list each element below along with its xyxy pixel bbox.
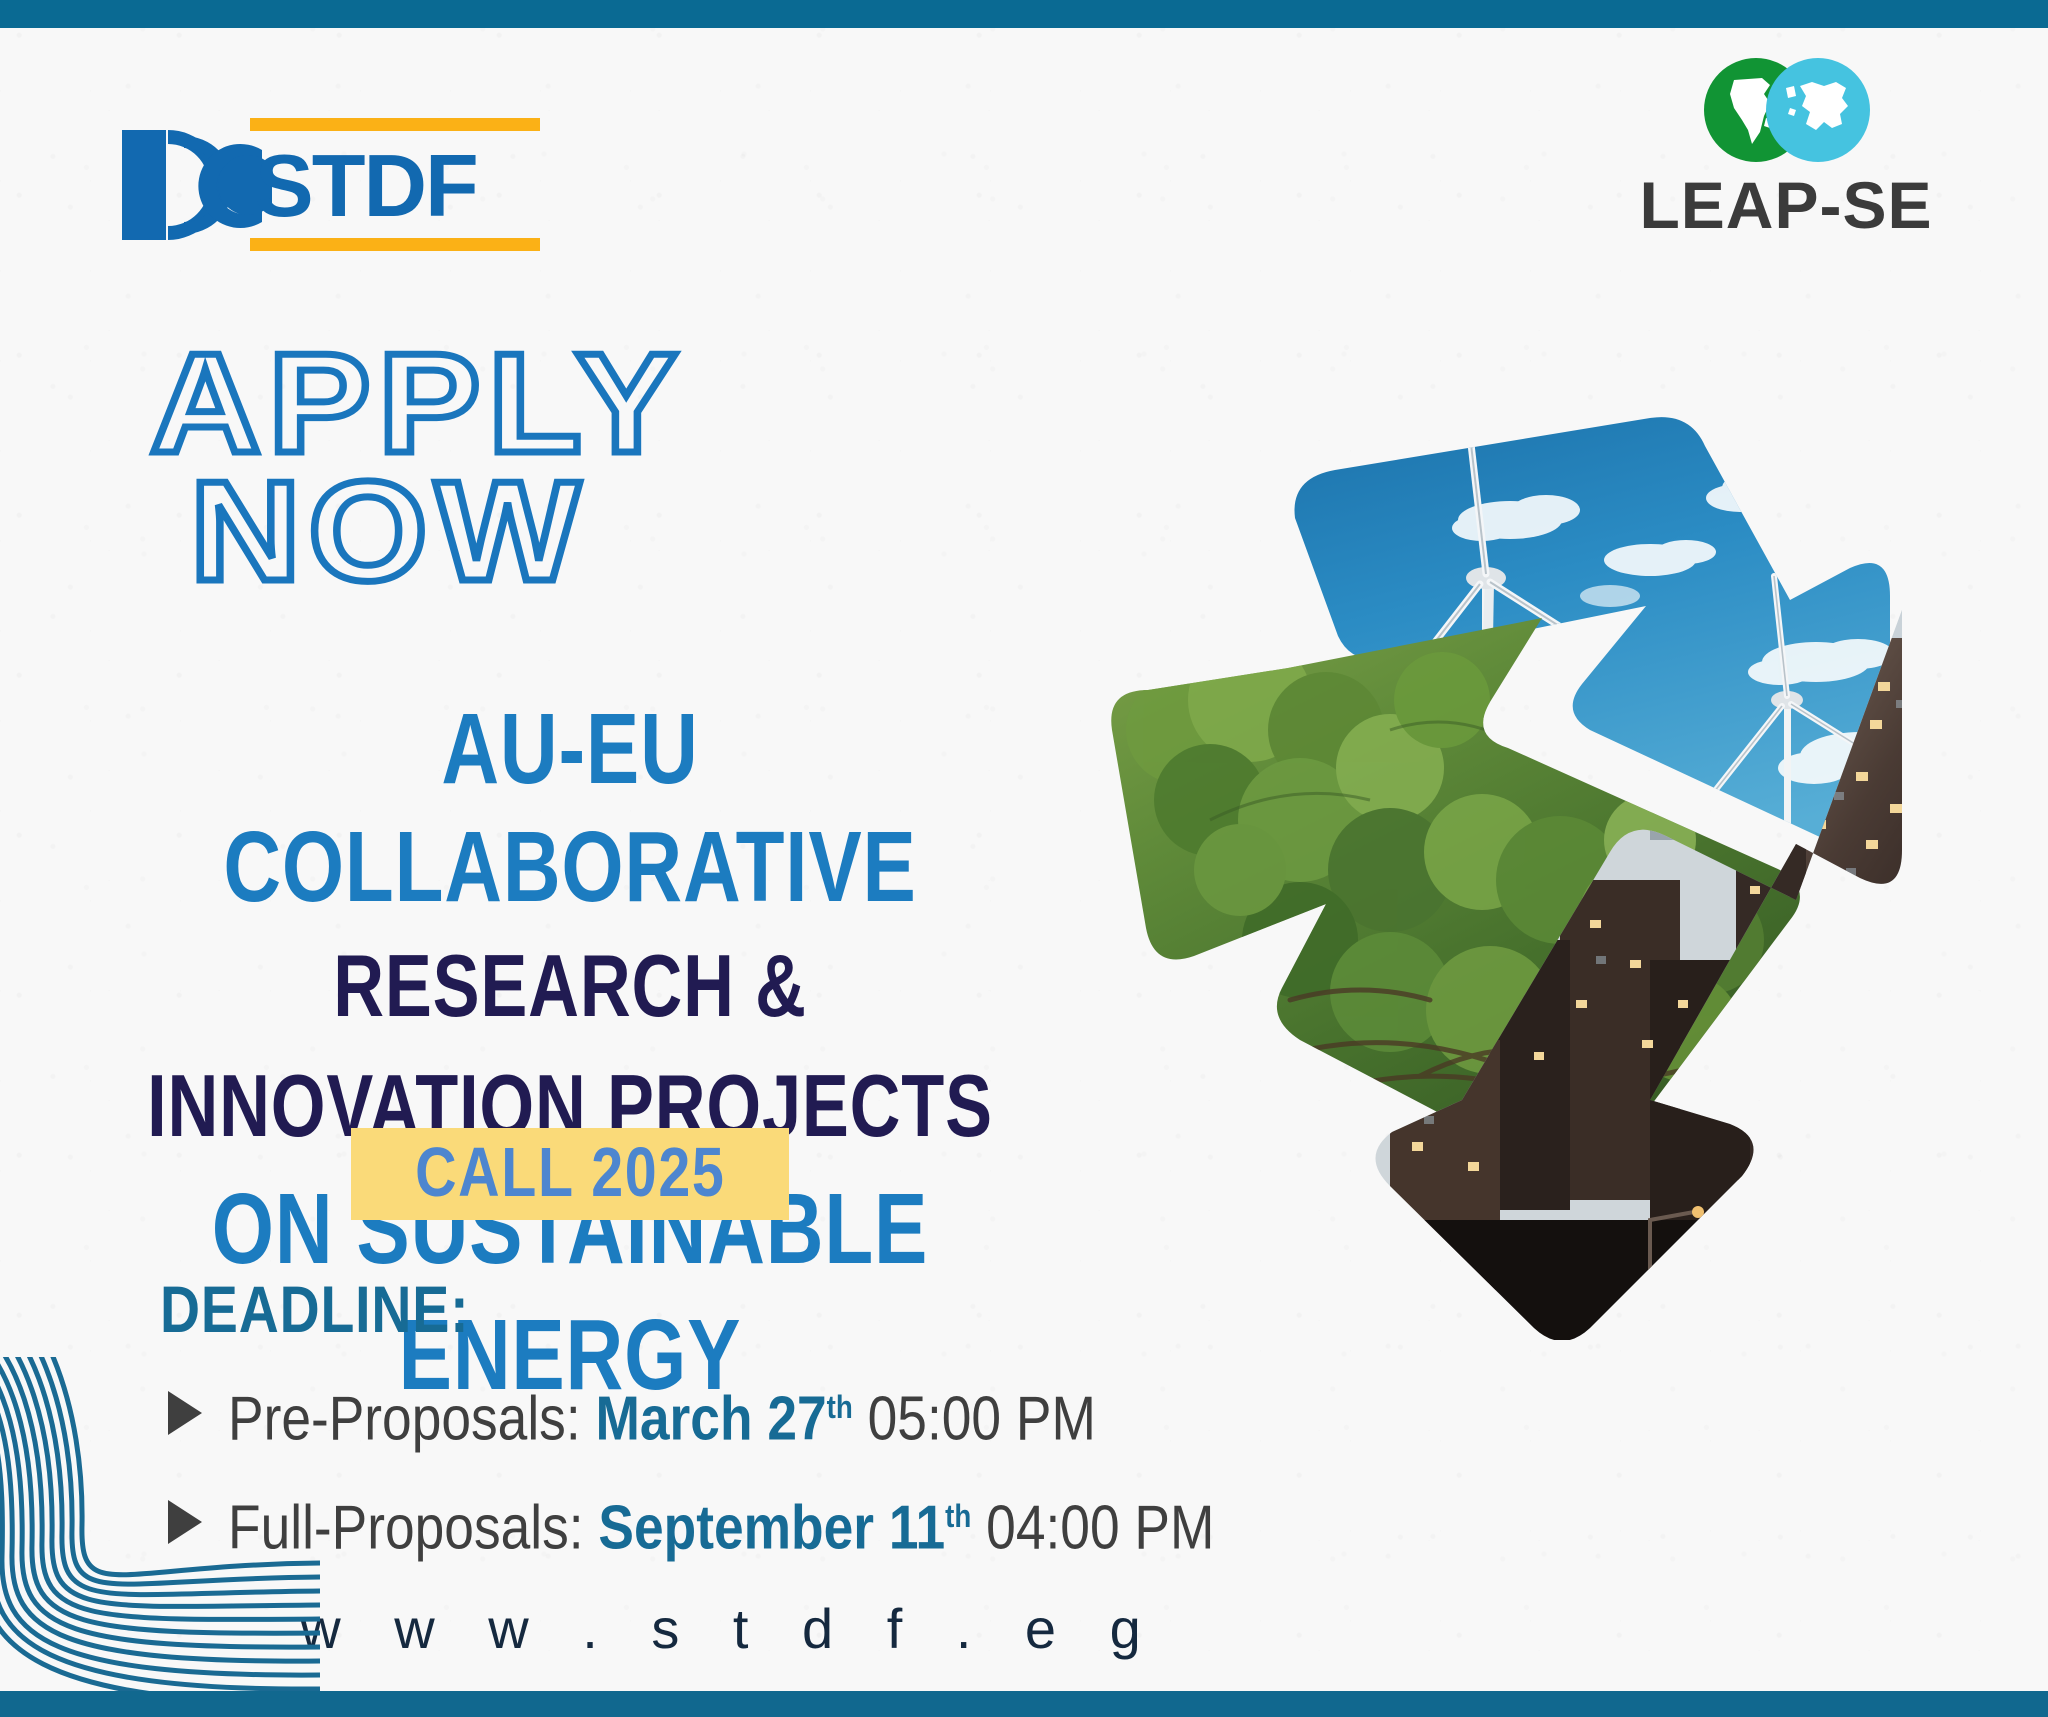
- deadline-row-text: Full-Proposals: September 11th 04:00 PM: [228, 1481, 1214, 1564]
- now-line: NOW: [190, 468, 682, 596]
- apply-now-heading: APPLY NOW: [150, 340, 645, 596]
- leapse-wordmark: LEAP-SE: [1596, 170, 1976, 240]
- recycling-symbol-collage: [1090, 400, 1990, 1340]
- leapse-logo: LEAP-SE: [1596, 58, 1976, 228]
- deadline-row-ordinal: th: [827, 1389, 853, 1425]
- stdf-emblem-icon: [122, 130, 272, 240]
- europe-globe-icon: [1766, 58, 1870, 162]
- deadline-row-time: 05:00 PM: [868, 1385, 1096, 1454]
- deadline-row-pre-proposals: Pre-Proposals: March 27th 05:00 PM: [168, 1372, 1375, 1455]
- call-badge-highlight: CALL 2025: [351, 1128, 790, 1220]
- deadline-row-full-proposals: Full-Proposals: September 11th 04:00 PM: [168, 1481, 1375, 1564]
- deadline-title: DEADLINE:: [160, 1272, 1181, 1346]
- stdf-logo-bottom-rule: [250, 238, 540, 251]
- deadline-row-date: March 27: [595, 1385, 826, 1454]
- deadline-row-date: September 11: [598, 1493, 945, 1562]
- stdf-logo-top-rule: [250, 118, 540, 131]
- stdf-logo: STDF: [122, 118, 552, 253]
- stdf-wordmark: STDF: [255, 134, 477, 238]
- headline-line-1: AU-EU COLLABORATIVE: [114, 690, 1026, 926]
- deadline-row-time: 04:00 PM: [986, 1493, 1214, 1562]
- leapse-globes: [1596, 58, 1976, 166]
- deadline-row-ordinal: th: [945, 1498, 971, 1534]
- apply-line: APPLY: [150, 340, 685, 468]
- call-year-badge: CALL 2025: [0, 1128, 1140, 1220]
- deadline-block: DEADLINE: Pre-Proposals: March 27th 05:0…: [160, 1272, 1375, 1563]
- wave-line-decoration: [0, 1357, 320, 1717]
- deadline-row-text: Pre-Proposals: March 27th 05:00 PM: [228, 1372, 1096, 1455]
- top-accent-bar: [0, 0, 2048, 28]
- bottom-accent-bar: [0, 1691, 2048, 1717]
- call-badge-label: CALL 2025: [415, 1134, 725, 1210]
